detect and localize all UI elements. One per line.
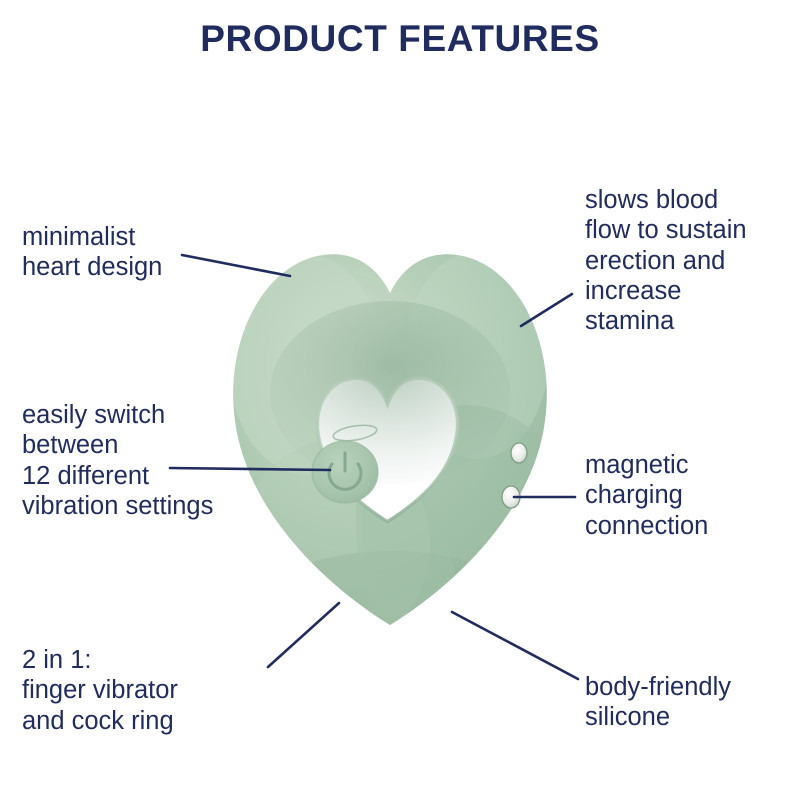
infographic-page: PRODUCT FEATURES <box>0 0 800 800</box>
callout-magnetic-charging: magnetic charging connection <box>585 450 708 541</box>
product-body <box>229 251 565 650</box>
charging-contact-top <box>511 443 527 463</box>
rim-shading <box>270 301 510 485</box>
callout-slows-blood-flow: slows blood flow to sustain erection and… <box>585 185 747 337</box>
hole-ambient-shadow <box>270 301 510 485</box>
charging-contact-bottom <box>502 486 520 508</box>
product-illustration <box>215 225 565 650</box>
callout-minimalist-heart-design: minimalist heart design <box>22 222 162 283</box>
callout-two-in-one: 2 in 1: finger vibrator and cock ring <box>22 645 178 736</box>
callout-body-friendly-silicone: body-friendly silicone <box>585 672 731 733</box>
product-image <box>215 225 565 650</box>
page-title: PRODUCT FEATURES <box>0 18 800 60</box>
power-button[interactable] <box>312 441 378 503</box>
callout-easily-switch-vibration: easily switch between 12 different vibra… <box>22 400 213 521</box>
